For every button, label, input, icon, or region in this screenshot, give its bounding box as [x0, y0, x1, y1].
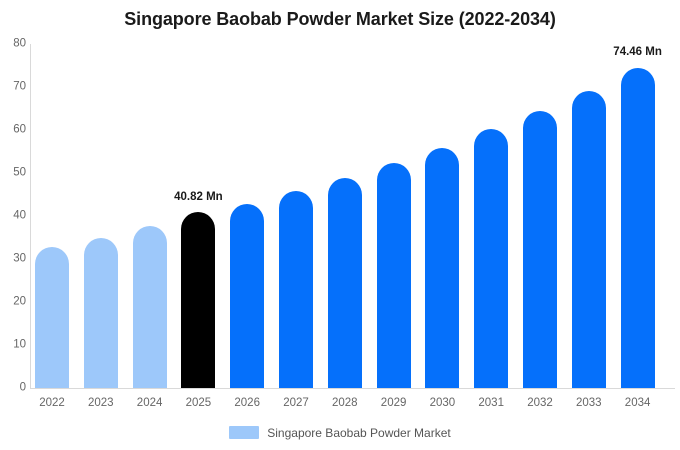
y-axis-tick: 10	[2, 339, 26, 351]
plot-area: 40.82 Mn74.46 Mn	[30, 44, 675, 388]
legend-swatch-icon	[229, 426, 259, 439]
bar-group[interactable]	[35, 44, 69, 388]
y-axis-tick: 70	[2, 81, 26, 93]
bar-group[interactable]	[230, 44, 264, 388]
chart-title: Singapore Baobab Powder Market Size (202…	[0, 9, 680, 30]
y-axis-tick: 80	[2, 38, 26, 50]
bar-group[interactable]	[572, 44, 606, 388]
bar-2028[interactable]	[328, 178, 362, 388]
y-axis-tick: 0	[2, 382, 26, 394]
x-axis-tick-2034: 2034	[621, 398, 655, 410]
y-axis-tick: 60	[2, 124, 26, 136]
bar-group[interactable]	[84, 44, 118, 388]
y-axis-tick: 50	[2, 167, 26, 179]
bar-value-label: 40.82 Mn	[174, 192, 223, 204]
x-axis-tick-2025: 2025	[181, 398, 215, 410]
x-axis-tick-2026: 2026	[230, 398, 264, 410]
bar-2030[interactable]	[425, 148, 459, 388]
bar-group[interactable]	[133, 44, 167, 388]
bar-group[interactable]	[425, 44, 459, 388]
bar-2029[interactable]	[377, 163, 411, 388]
x-axis-line	[30, 388, 675, 389]
legend-label: Singapore Baobab Powder Market	[267, 427, 450, 439]
bar-group[interactable]	[523, 44, 557, 388]
y-axis-tick-labels: 01020304050607080	[0, 0, 26, 450]
x-axis-tick-2029: 2029	[377, 398, 411, 410]
bar-group[interactable]: 74.46 Mn	[621, 44, 655, 388]
chart-legend: Singapore Baobab Powder Market	[0, 426, 680, 439]
bar-group[interactable]	[474, 44, 508, 388]
x-axis-tick-2032: 2032	[523, 398, 557, 410]
x-axis-tick-2030: 2030	[425, 398, 459, 410]
x-axis-tick-2022: 2022	[35, 398, 69, 410]
bar-group[interactable]	[328, 44, 362, 388]
bar-2026[interactable]	[230, 204, 264, 388]
bar-2032[interactable]	[523, 111, 557, 388]
y-axis-tick: 40	[2, 210, 26, 222]
bar-2025[interactable]	[181, 212, 215, 388]
x-axis-tick-2023: 2023	[84, 398, 118, 410]
x-axis-tick-2027: 2027	[279, 398, 313, 410]
x-axis-tick-2024: 2024	[133, 398, 167, 410]
x-axis-tick-2033: 2033	[572, 398, 606, 410]
bar-group[interactable]	[377, 44, 411, 388]
bar-value-label: 74.46 Mn	[613, 47, 662, 59]
bar-group[interactable]	[279, 44, 313, 388]
bar-2034[interactable]	[621, 68, 655, 388]
x-axis-tick-2028: 2028	[328, 398, 362, 410]
bar-2033[interactable]	[572, 91, 606, 388]
bar-2031[interactable]	[474, 129, 508, 388]
bar-2027[interactable]	[279, 191, 313, 388]
bar-chart: Singapore Baobab Powder Market Size (202…	[0, 0, 680, 450]
bar-2022[interactable]	[35, 247, 69, 388]
y-axis-tick: 30	[2, 253, 26, 265]
bar-2024[interactable]	[133, 226, 167, 388]
y-axis-tick: 20	[2, 296, 26, 308]
bar-group[interactable]: 40.82 Mn	[181, 44, 215, 388]
bar-2023[interactable]	[84, 238, 118, 388]
x-axis-tick-2031: 2031	[474, 398, 508, 410]
